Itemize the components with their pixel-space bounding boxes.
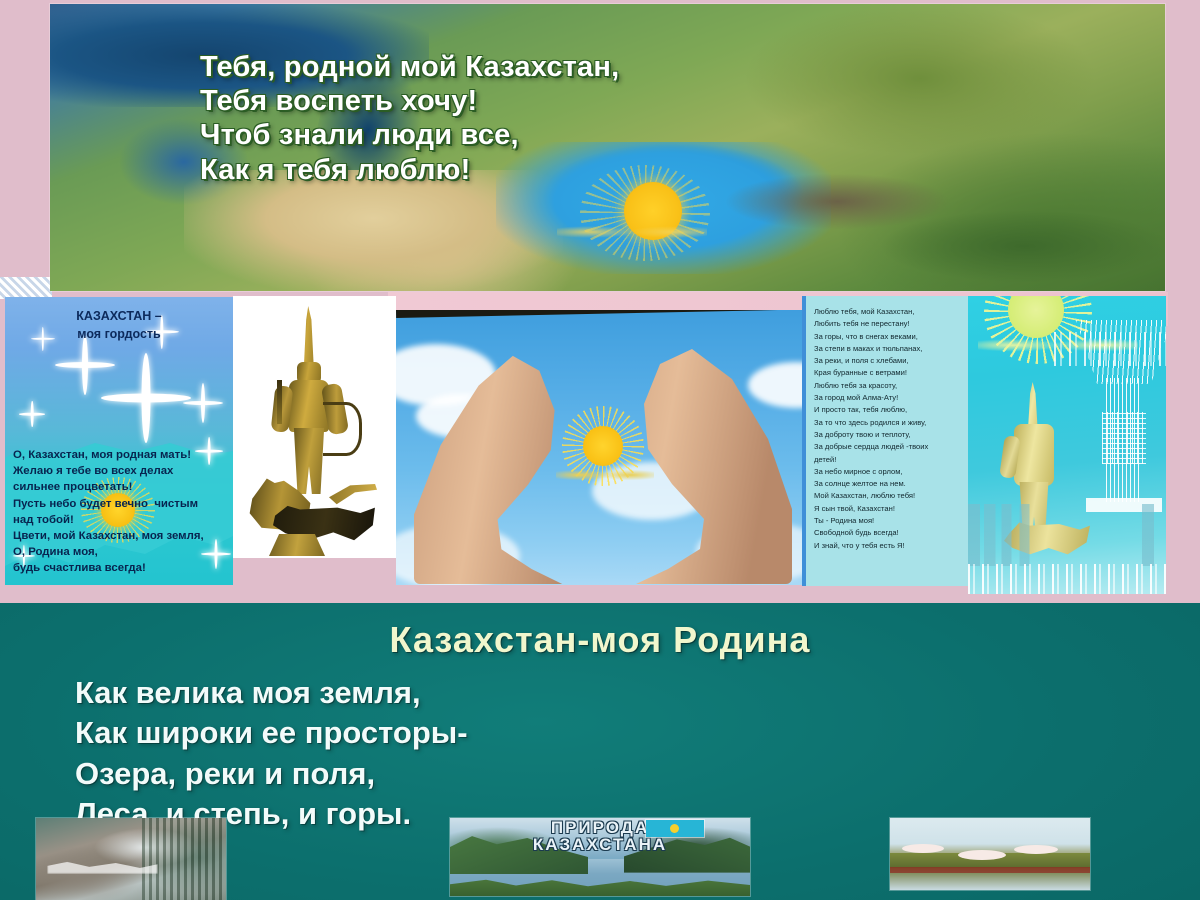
red-water-band [890, 867, 1090, 873]
astana-skyline [968, 504, 1166, 566]
lake-thumbnail: ПРИРОДА КАЗАХСТАНА [450, 818, 750, 896]
flamingo-icon [902, 844, 944, 853]
sparkle-icon [19, 401, 45, 427]
section-title-kazakhstan-my-homeland: Казахстан-моя Родина [0, 619, 1200, 661]
flamingo-icon [958, 850, 1006, 860]
baiterek-lattice [1102, 412, 1146, 464]
sparkle-icon [55, 335, 115, 395]
cloud-icon [748, 362, 805, 408]
warrior-spear [277, 380, 282, 424]
section-poem-how-great-my-land: Как велика моя земля, Как широки ее прос… [75, 673, 468, 834]
sparkle-icon [101, 353, 191, 443]
slide-background-left [0, 0, 51, 292]
forest-texture [142, 818, 226, 900]
middle-image-row: КАЗАХСТАН – моя гордость О, Казахстан, м… [0, 292, 1200, 603]
warrior-torso [1014, 424, 1054, 486]
baiterek-crown [1076, 320, 1166, 384]
panel-kazakhstan-my-pride: КАЗАХСТАН – моя гордость О, Казахстан, м… [5, 297, 233, 585]
panel-baiterek-astana [968, 296, 1166, 594]
presentation-slide: Тебя, родной мой Казахстан, Тебя воспеть… [0, 0, 1200, 900]
panel-golden-warrior-monument [233, 296, 396, 558]
lake-thumbnail-caption: ПРИРОДА КАЗАХСТАНА [450, 819, 750, 853]
warrior-legs [291, 428, 327, 494]
warrior-helmet [1024, 382, 1042, 430]
kazakh-ornament-border [968, 564, 1166, 594]
sparkle-icon [183, 383, 223, 423]
flamingo-thumbnail [890, 818, 1090, 890]
banner-poem-text: Тебя, родной мой Казахстан, Тебя воспеть… [200, 50, 619, 187]
mountain-region [697, 142, 1165, 291]
warrior-helmet [299, 306, 319, 368]
kazakhstan-flag-icon [646, 820, 704, 837]
eagle-icon [556, 460, 654, 490]
photo-edge-shadow [396, 310, 805, 318]
flag-sun-icon [670, 824, 679, 833]
mountains-thumbnail [36, 818, 226, 900]
warrior-bow [323, 402, 362, 456]
eagle-icon [557, 215, 707, 249]
panel-poem-kazakhstan-pride: О, Казахстан, моя родная мать! Желаю я т… [13, 447, 231, 577]
snow-ridge [47, 861, 157, 874]
panel-poem-i-love-you-kazakhstan: Люблю тебя, мой Казахстан, Любить тебя н… [814, 306, 966, 552]
panel-heart-hands-flag [396, 310, 805, 585]
golden-warrior-figure [265, 306, 351, 486]
panel-title-kazakhstan-pride: КАЗАХСТАН – моя гордость [5, 307, 233, 343]
panel-i-love-you-kazakhstan: Люблю тебя, мой Казахстан, Любить тебя н… [806, 296, 968, 586]
leopard-tail [329, 484, 377, 506]
